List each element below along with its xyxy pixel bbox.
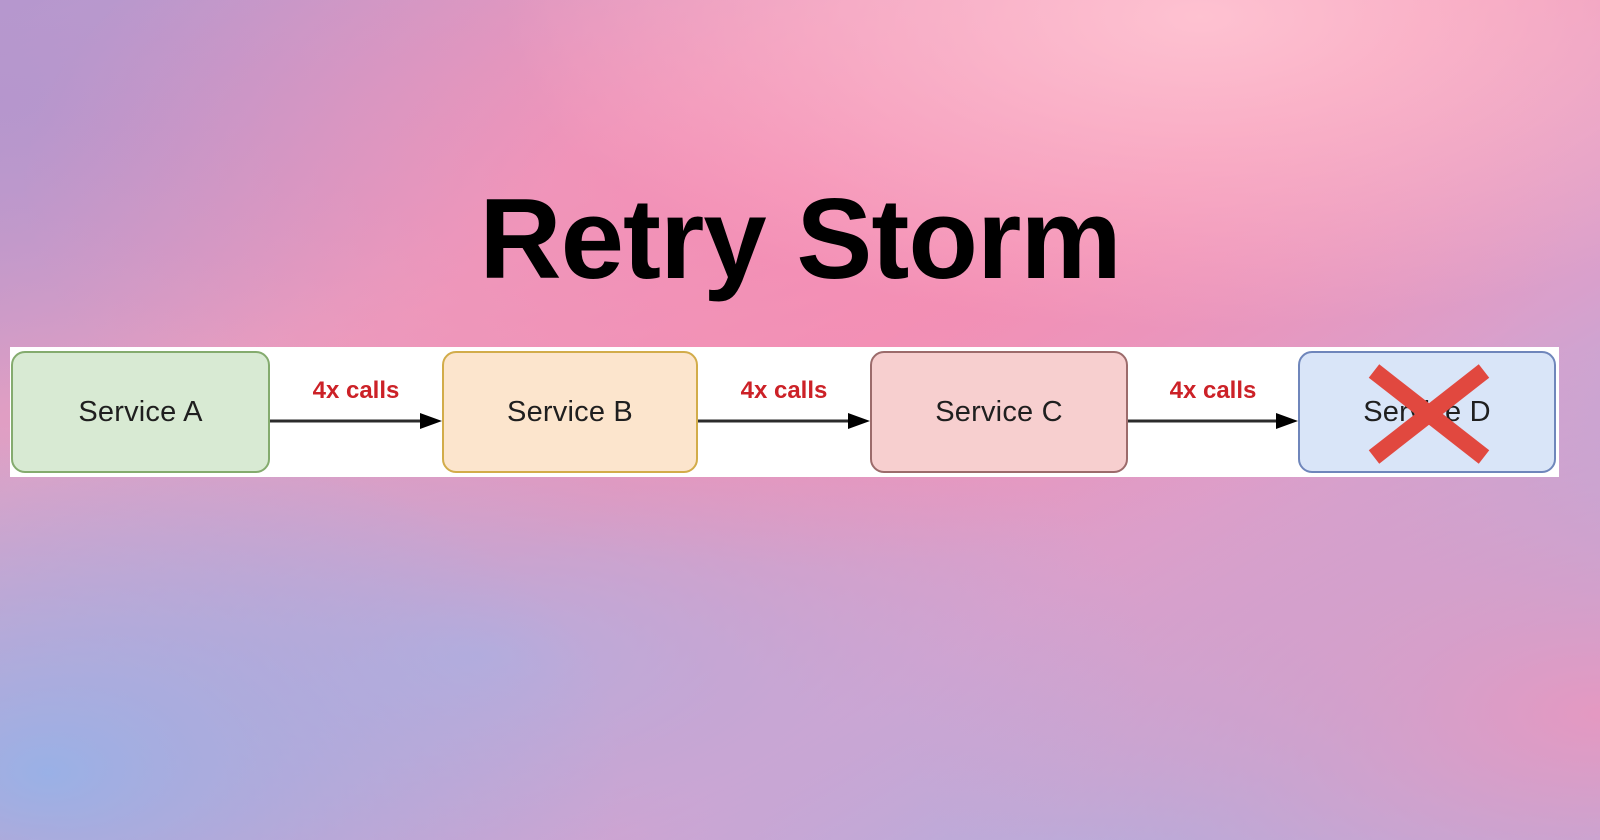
edge-c-to-d-label: 4x calls: [1128, 377, 1298, 405]
edge-c-to-d: 4x calls: [1128, 351, 1298, 473]
service-node-d[interactable]: Service D: [1298, 351, 1556, 473]
edge-a-to-b-label: 4x calls: [270, 377, 442, 405]
service-node-c[interactable]: Service C: [870, 351, 1128, 473]
service-flow-diagram: Service A 4x calls Service B 4x calls Se…: [10, 347, 1559, 477]
service-node-d-label: Service D: [1363, 396, 1491, 429]
service-node-b[interactable]: Service B: [442, 351, 698, 473]
service-node-c-label: Service C: [935, 396, 1063, 429]
service-node-b-label: Service B: [507, 396, 633, 429]
arrow-right-icon: [1128, 412, 1298, 430]
arrow-right-icon: [698, 412, 870, 430]
edge-a-to-b: 4x calls: [270, 351, 442, 473]
page-title: Retry Storm: [0, 181, 1600, 299]
service-node-a-label: Service A: [78, 396, 202, 429]
edge-b-to-c-label: 4x calls: [698, 377, 870, 405]
service-node-a[interactable]: Service A: [11, 351, 270, 473]
edge-b-to-c: 4x calls: [698, 351, 870, 473]
arrow-right-icon: [270, 412, 442, 430]
